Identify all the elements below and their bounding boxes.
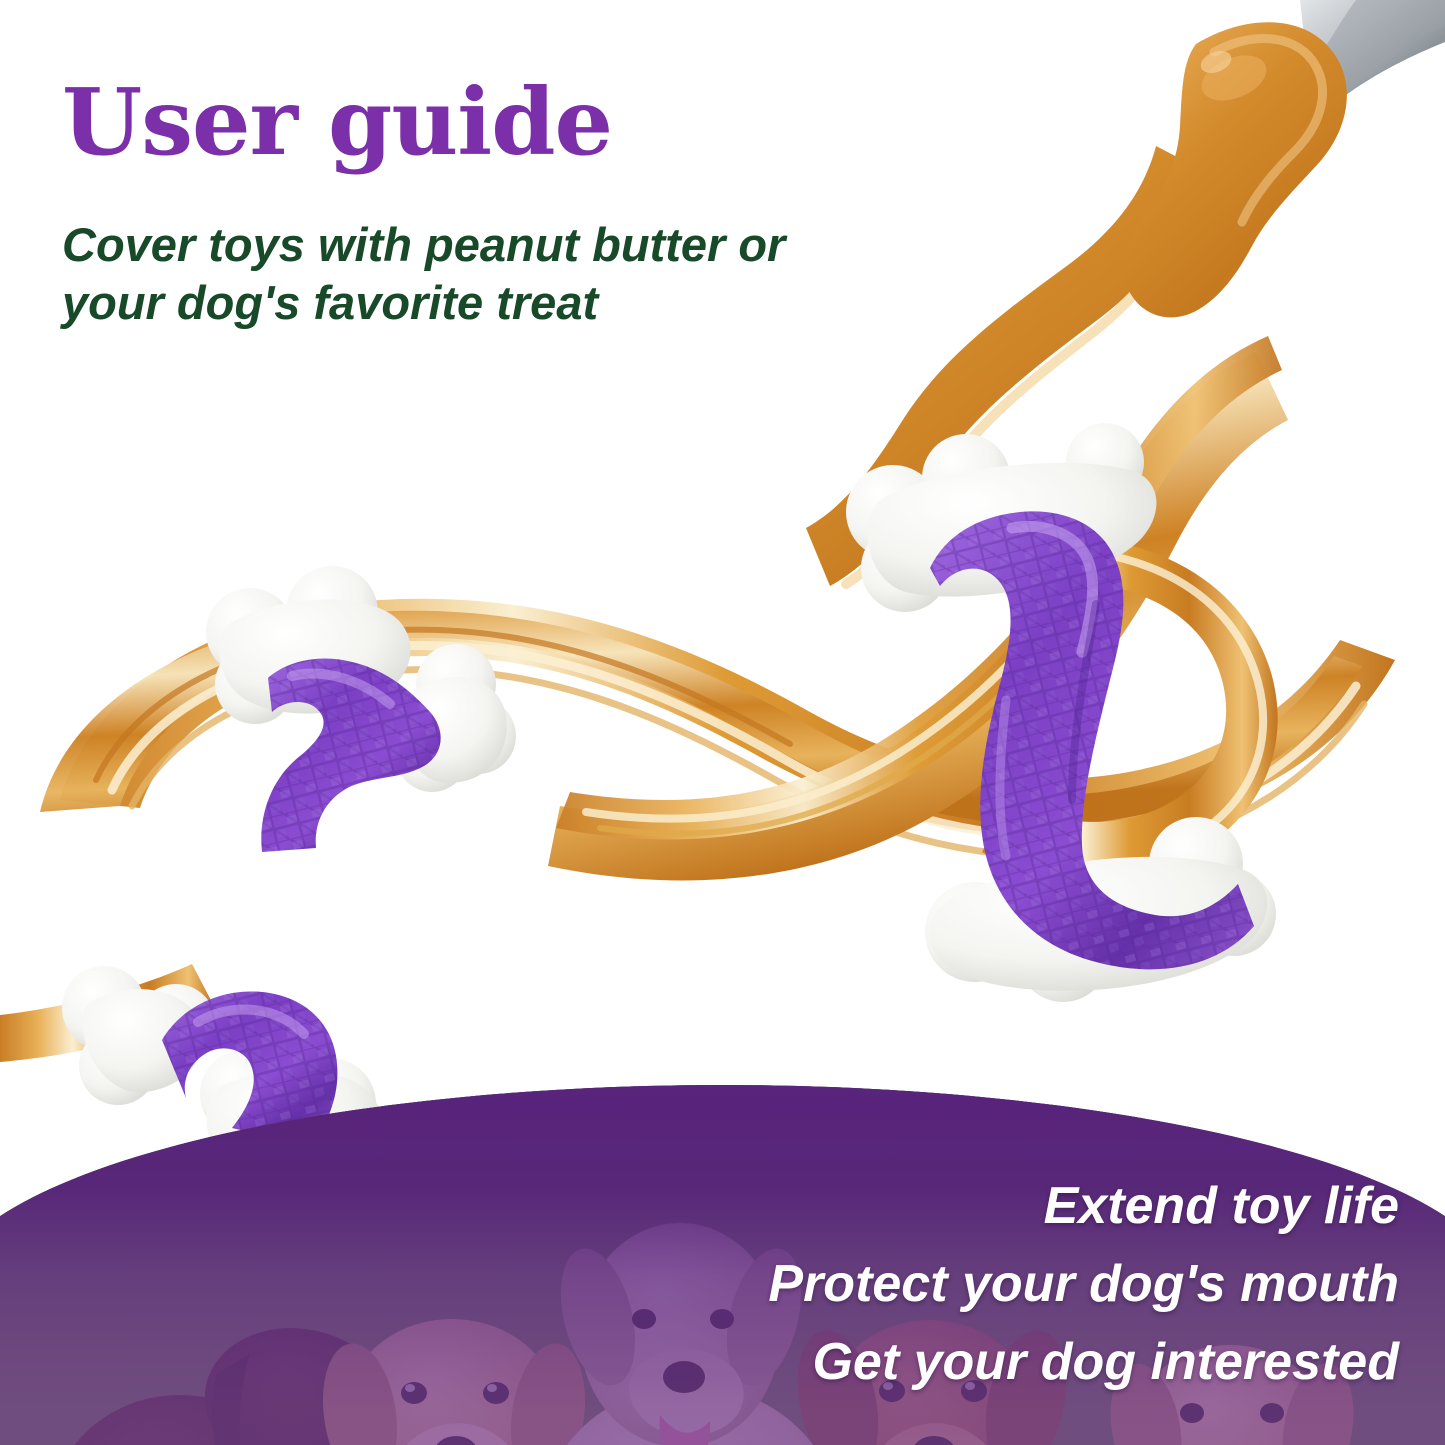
- benefits-list: Extend toy life Protect your dog's mouth…: [499, 1180, 1399, 1388]
- page-subtitle: Cover toys with peanut butter or your do…: [62, 216, 892, 333]
- infographic-page: User guide Cover toys with peanut butter…: [0, 0, 1445, 1445]
- benefit-2: Protect your dog's mouth: [499, 1258, 1399, 1310]
- subtitle-line-1: Cover toys with peanut butter or: [62, 216, 892, 274]
- subtitle-line-2: your dog's favorite treat: [62, 274, 892, 332]
- toy-textured-shaft: [261, 659, 440, 852]
- benefit-1: Extend toy life: [499, 1180, 1399, 1232]
- hero-illustration: [0, 0, 1445, 1180]
- benefit-3: Get your dog interested: [499, 1336, 1399, 1388]
- page-title: User guide: [62, 76, 942, 168]
- purple-bone-chew-toy: [846, 423, 1276, 1002]
- hero-artwork: [0, 0, 1445, 1180]
